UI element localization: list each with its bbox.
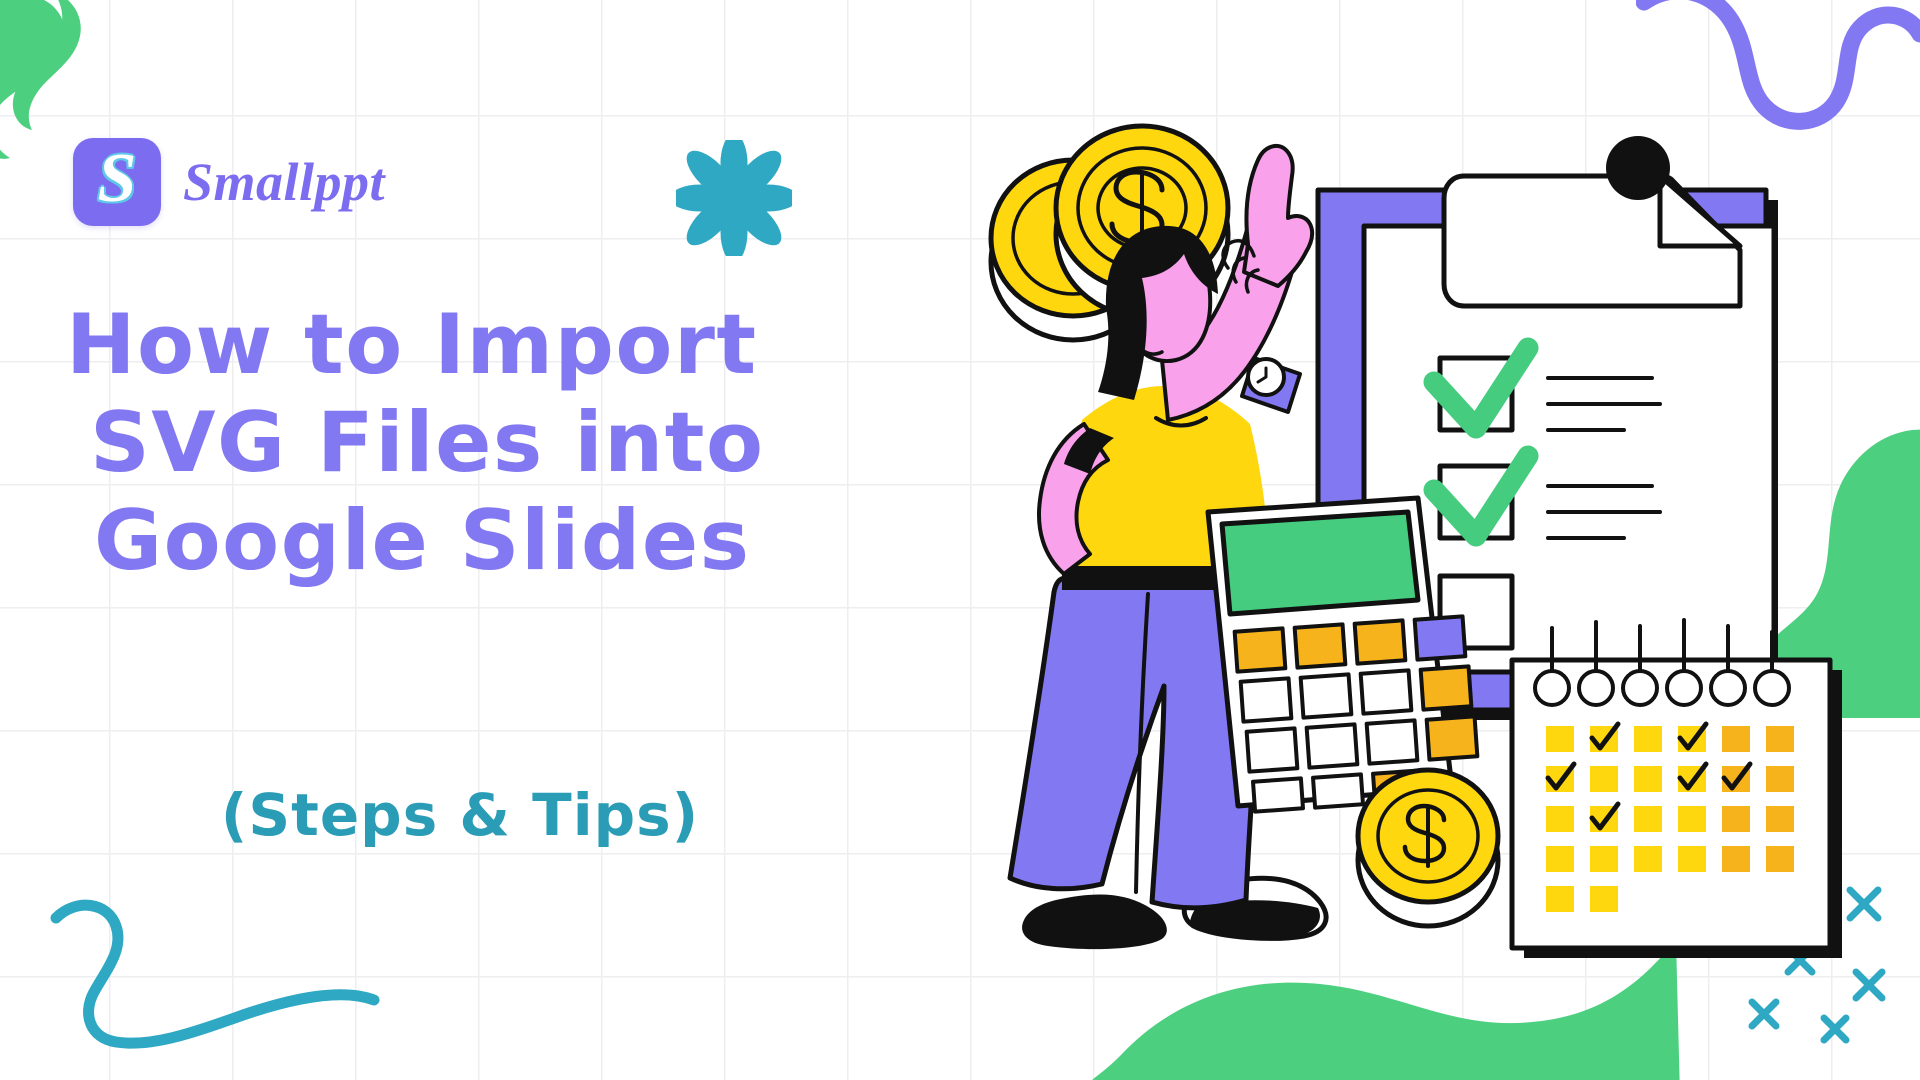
title-line-2: SVG Files into — [60, 394, 860, 492]
page-subtitle: (Steps & Tips) — [60, 782, 860, 848]
brand-name: Smallppt — [183, 151, 385, 213]
logo-letter: S — [98, 144, 137, 214]
smallppt-logo-icon[interactable]: S — [73, 138, 161, 226]
title-line-1: How to Import — [60, 296, 860, 394]
poster-canvas: S Smallppt How to Import SVG Files into … — [0, 0, 1920, 1080]
coin-single-bottom — [1358, 770, 1498, 926]
calendar — [1512, 620, 1842, 958]
page-title: How to Import SVG Files into Google Slid… — [60, 296, 860, 590]
brand-lockup[interactable]: S Smallppt — [73, 138, 385, 226]
title-line-3: Google Slides — [60, 492, 860, 590]
